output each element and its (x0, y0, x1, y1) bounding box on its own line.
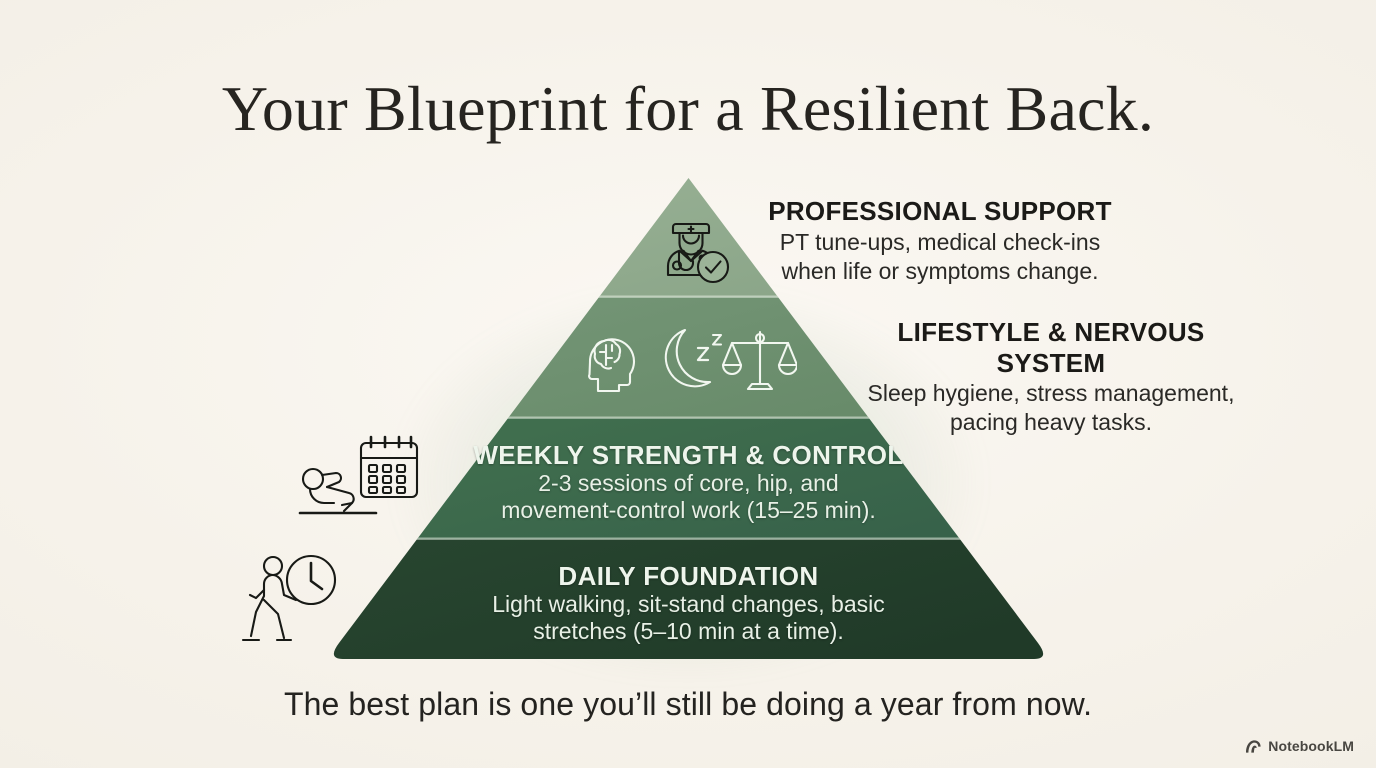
notebooklm-logo-icon (1245, 739, 1262, 754)
icon-group-lifestyle-nervous-system (582, 322, 797, 399)
tier-text-weekly-strength-control: WEEKLY STRENGTH & CONTROL 2-3 sessions o… (402, 440, 975, 524)
callout-professional-support: PROFESSIONAL SUPPORT PT tune-ups, medica… (740, 196, 1140, 285)
tier-title-daily-foundation: DAILY FOUNDATION (387, 561, 990, 591)
moon-sleep-icon (666, 330, 721, 386)
notebooklm-watermark-label: NotebookLM (1268, 738, 1354, 754)
icon-group-professional-support (651, 205, 733, 292)
callout-desc-lifestyle-line-2: pacing heavy tasks. (846, 409, 1256, 436)
callout-title-lifestyle-nervous-system: LIFESTYLE & NERVOUS SYSTEM (846, 317, 1256, 378)
tier-divider-3 (327, 538, 1050, 540)
icon-group-daily-foundation (239, 548, 344, 653)
callout-desc-professional-line-2: when life or symptoms change. (740, 258, 1140, 285)
page-title: Your Blueprint for a Resilient Back. (0, 72, 1376, 146)
callout-lifestyle-nervous-system: LIFESTYLE & NERVOUS SYSTEM Sleep hygiene… (846, 317, 1256, 437)
tier-desc-daily-line-1: Light walking, sit-stand changes, basic (387, 591, 990, 618)
tier-divider-1 (327, 296, 1050, 298)
clock-icon (287, 556, 335, 604)
tier-title-weekly-strength-control: WEEKLY STRENGTH & CONTROL (402, 440, 975, 470)
tier-desc-weekly-line-2: movement-control work (15–25 min). (402, 497, 975, 524)
check-badge-icon (698, 252, 728, 282)
icon-group-weekly-strength-control (298, 431, 424, 526)
tier-text-daily-foundation: DAILY FOUNDATION Light walking, sit-stan… (387, 561, 990, 645)
sit-up-exercise-icon (300, 469, 376, 513)
infographic-canvas: Your Blueprint for a Resilient Back. (0, 0, 1376, 768)
tier-desc-weekly-line-1: 2-3 sessions of core, hip, and (402, 470, 975, 497)
notebooklm-watermark: NotebookLM (1245, 738, 1354, 754)
callout-title-professional-support: PROFESSIONAL SUPPORT (740, 196, 1140, 227)
calendar-icon (361, 437, 417, 497)
callout-desc-lifestyle-line-1: Sleep hygiene, stress management, (846, 380, 1256, 407)
tier-desc-daily-line-2: stretches (5–10 min at a time). (387, 618, 990, 645)
footer-quote: The best plan is one you’ll still be doi… (0, 686, 1376, 723)
balance-scales-icon (723, 332, 797, 389)
callout-desc-professional-line-1: PT tune-ups, medical check-ins (740, 229, 1140, 256)
walking-person-icon (243, 557, 296, 640)
head-brain-icon (589, 339, 634, 391)
